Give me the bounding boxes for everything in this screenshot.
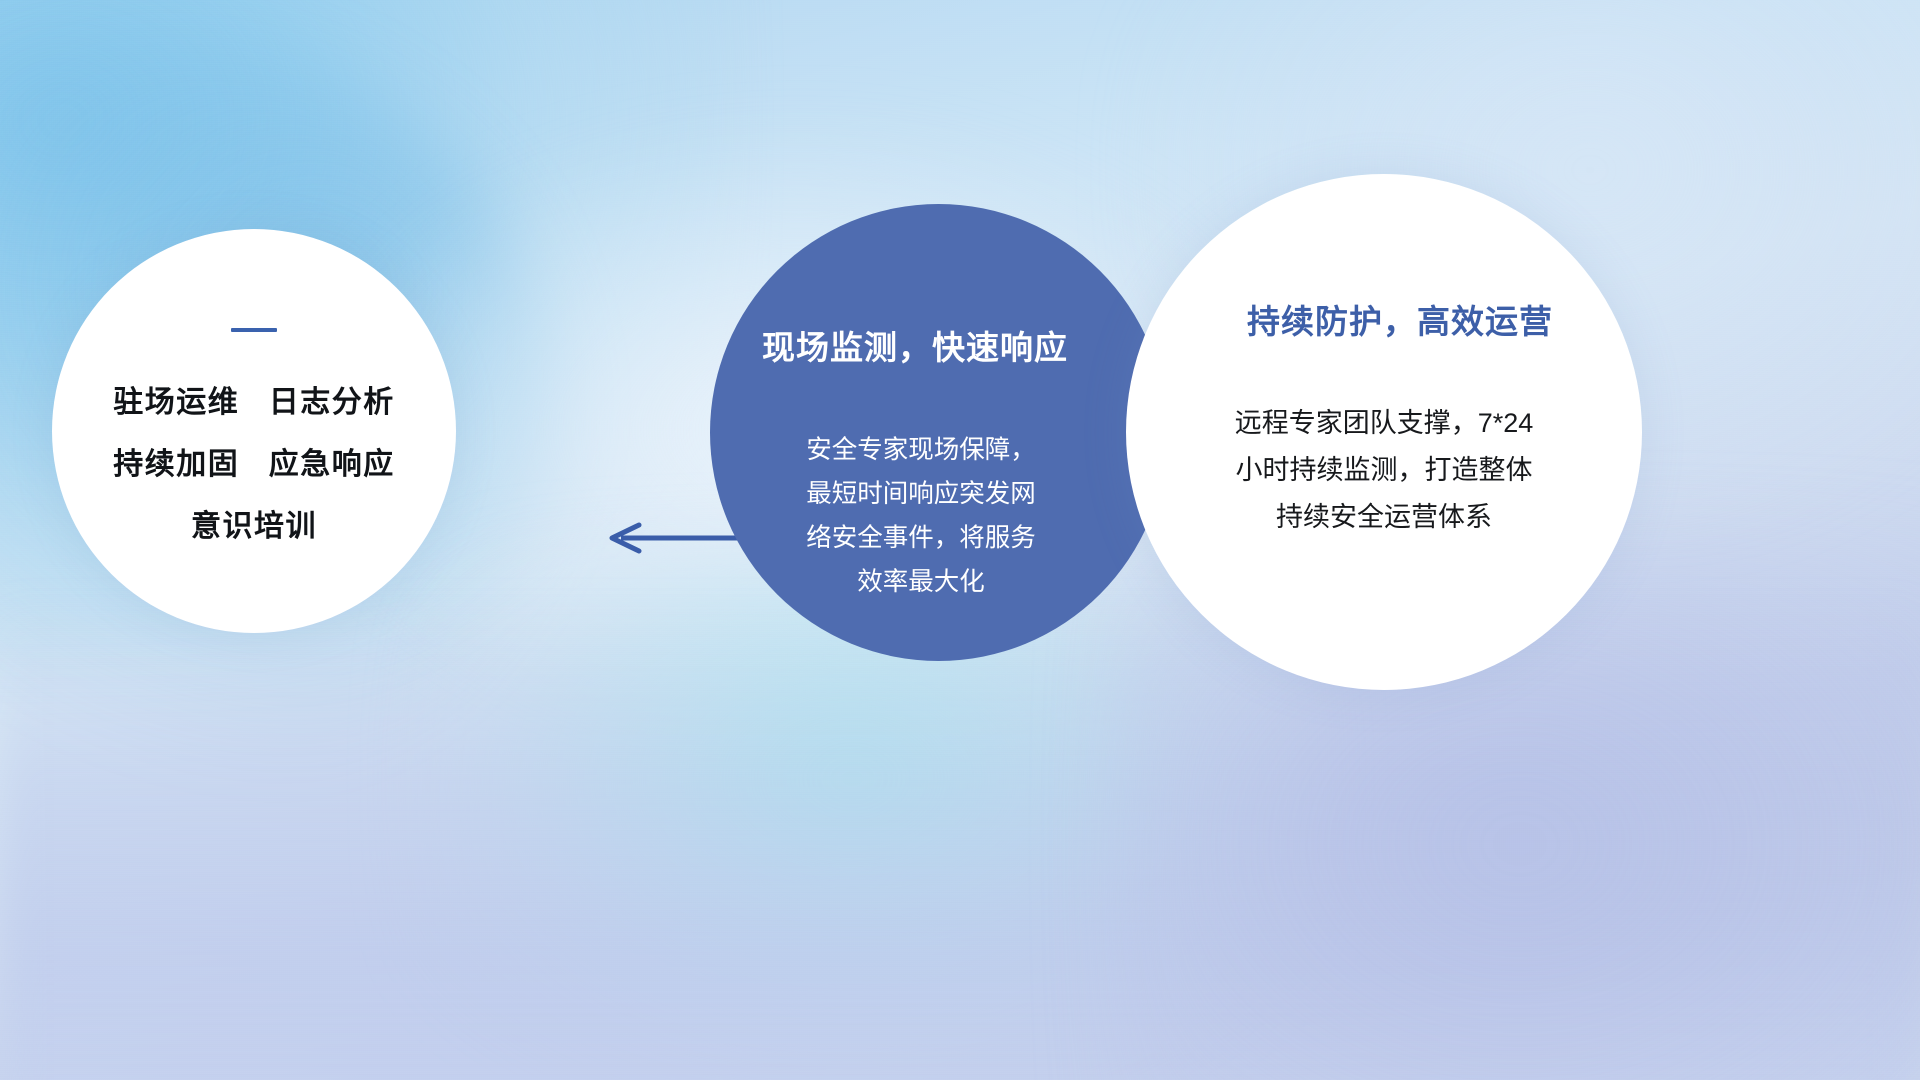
horizontal-dash-icon xyxy=(231,328,277,332)
driver-services-circle[interactable]: 驻场运维 日志分析 持续加固 应急响应 意识培训 xyxy=(52,229,456,633)
driver-services-list: 驻场运维 日志分析 持续加固 应急响应 意识培训 xyxy=(52,372,456,558)
list-item: 持续加固 应急响应 xyxy=(52,434,456,496)
slide-canvas: 现场监测，快速响应 安全专家现场保障， 最短时间响应突发网 络安全事件，将服务 … xyxy=(0,0,1920,1080)
continuous-protection-title: 持续防护，高效运营 xyxy=(1126,295,1642,343)
continuous-protection-circle[interactable]: 持续防护，高效运营 远程专家团队支撑，7*24 小时持续监测，打造整体 持续安全… xyxy=(1126,174,1642,690)
list-item: 意识培训 xyxy=(52,496,456,558)
onsite-monitoring-circle[interactable]: 现场监测，快速响应 安全专家现场保障， 最短时间响应突发网 络安全事件，将服务 … xyxy=(710,204,1167,661)
onsite-monitoring-title: 现场监测，快速响应 xyxy=(710,321,1167,369)
onsite-monitoring-body: 安全专家现场保障， 最短时间响应突发网 络安全事件，将服务 效率最大化 xyxy=(762,428,1080,604)
onsite-monitoring-content: 现场监测，快速响应 安全专家现场保障， 最短时间响应突发网 络安全事件，将服务 … xyxy=(710,204,1167,661)
continuous-protection-body: 远程专家团队支撑，7*24 小时持续监测，打造整体 持续安全运营体系 xyxy=(1154,400,1614,541)
list-item: 驻场运维 日志分析 xyxy=(52,372,456,434)
